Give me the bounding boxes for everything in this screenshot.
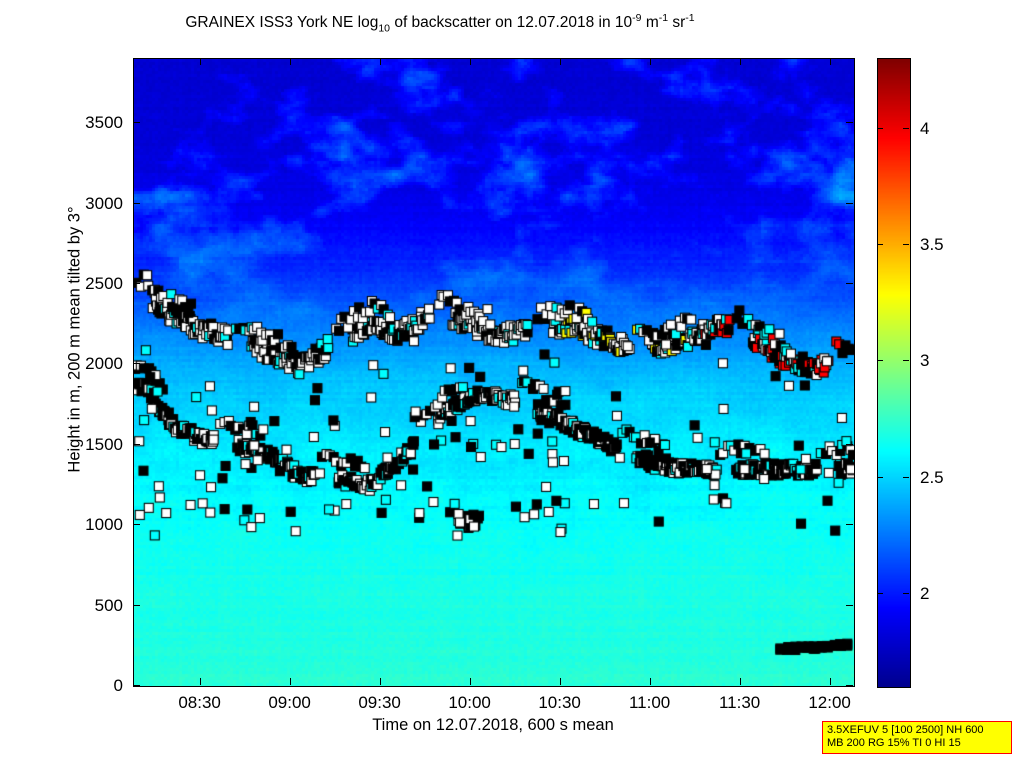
- colorbar-tick-label: 2: [920, 585, 929, 602]
- x-tick-mark: [200, 678, 201, 685]
- colorbar-tick-label: 3: [920, 352, 929, 369]
- y-tick-mark: [133, 444, 140, 445]
- y-tick-mark: [846, 605, 853, 606]
- x-tick-label: 12:00: [785, 694, 875, 711]
- x-tick-label: 10:00: [425, 694, 515, 711]
- colorbar-tick-label: 2.5: [920, 469, 944, 486]
- colorbar-tick-label: 3.5: [920, 236, 944, 253]
- x-tick-mark: [380, 678, 381, 685]
- layer-height-markers: [134, 59, 854, 686]
- x-axis-label: Time on 12.07.2018, 600 s mean: [133, 716, 853, 735]
- y-tick-mark: [846, 363, 853, 364]
- y-tick-mark: [133, 283, 140, 284]
- colorbar-tick-mark: [903, 244, 909, 245]
- y-tick-label: 0: [63, 677, 123, 694]
- x-tick-mark: [560, 58, 561, 65]
- x-tick-mark: [650, 58, 651, 65]
- x-tick-mark: [470, 678, 471, 685]
- y-tick-mark: [133, 203, 140, 204]
- y-tick-mark: [133, 605, 140, 606]
- annotation-line-1: 3.5XEFUV 5 [100 2500] NH 600: [827, 724, 1008, 737]
- title-middle: of backscatter on 12.07.2018 in 10: [390, 14, 632, 31]
- y-tick-mark: [133, 122, 140, 123]
- x-tick-mark: [650, 678, 651, 685]
- title-unit-2: sr: [668, 14, 685, 31]
- title-prefix: GRAINEX ISS3 York NE log: [185, 14, 378, 31]
- title-log-subscript: 10: [378, 22, 390, 34]
- x-tick-label: 09:00: [245, 694, 335, 711]
- colorbar-tick-mark: [877, 360, 883, 361]
- x-tick-mark: [290, 58, 291, 65]
- y-tick-mark: [846, 524, 853, 525]
- title-exponent-3: -1: [685, 12, 694, 24]
- y-tick-mark: [133, 363, 140, 364]
- x-tick-label: 09:30: [335, 694, 425, 711]
- colorbar-tick-mark: [903, 128, 909, 129]
- annotation-line-2: MB 200 RG 15% TI 0 HI 15: [827, 737, 1008, 750]
- x-tick-label: 11:00: [605, 694, 695, 711]
- x-tick-mark: [200, 58, 201, 65]
- colorbar-tick-mark: [877, 128, 883, 129]
- y-tick-mark: [846, 685, 853, 686]
- colorbar-tick-mark: [877, 244, 883, 245]
- x-tick-mark: [830, 58, 831, 65]
- y-tick-mark: [133, 685, 140, 686]
- x-tick-mark: [740, 678, 741, 685]
- y-tick-mark: [133, 524, 140, 525]
- x-tick-mark: [560, 678, 561, 685]
- colorbar-tick-mark: [903, 593, 909, 594]
- page-title: GRAINEX ISS3 York NE log10 of backscatte…: [0, 12, 880, 34]
- x-tick-label: 11:30: [695, 694, 785, 711]
- y-tick-mark: [846, 122, 853, 123]
- y-tick-mark: [846, 203, 853, 204]
- x-tick-mark: [740, 58, 741, 65]
- y-tick-mark: [846, 444, 853, 445]
- y-axis-label: Height in m, 200 m mean tilted by 3°: [66, 60, 85, 620]
- title-exponent-1: -9: [632, 12, 641, 24]
- colorbar-tick-mark: [877, 477, 883, 478]
- x-tick-label: 08:30: [155, 694, 245, 711]
- x-tick-mark: [830, 678, 831, 685]
- settings-annotation-box: 3.5XEFUV 5 [100 2500] NH 600 MB 200 RG 1…: [822, 721, 1012, 754]
- plot-area: [133, 58, 855, 687]
- x-tick-mark: [380, 58, 381, 65]
- title-unit-1: m: [642, 14, 659, 31]
- colorbar-tick-mark: [877, 593, 883, 594]
- y-tick-mark: [846, 283, 853, 284]
- x-tick-label: 10:30: [515, 694, 605, 711]
- x-tick-mark: [290, 678, 291, 685]
- x-tick-mark: [470, 58, 471, 65]
- colorbar-tick-label: 4: [920, 120, 929, 137]
- title-exponent-2: -1: [659, 12, 668, 24]
- colorbar-tick-mark: [903, 360, 909, 361]
- colorbar-tick-mark: [903, 477, 909, 478]
